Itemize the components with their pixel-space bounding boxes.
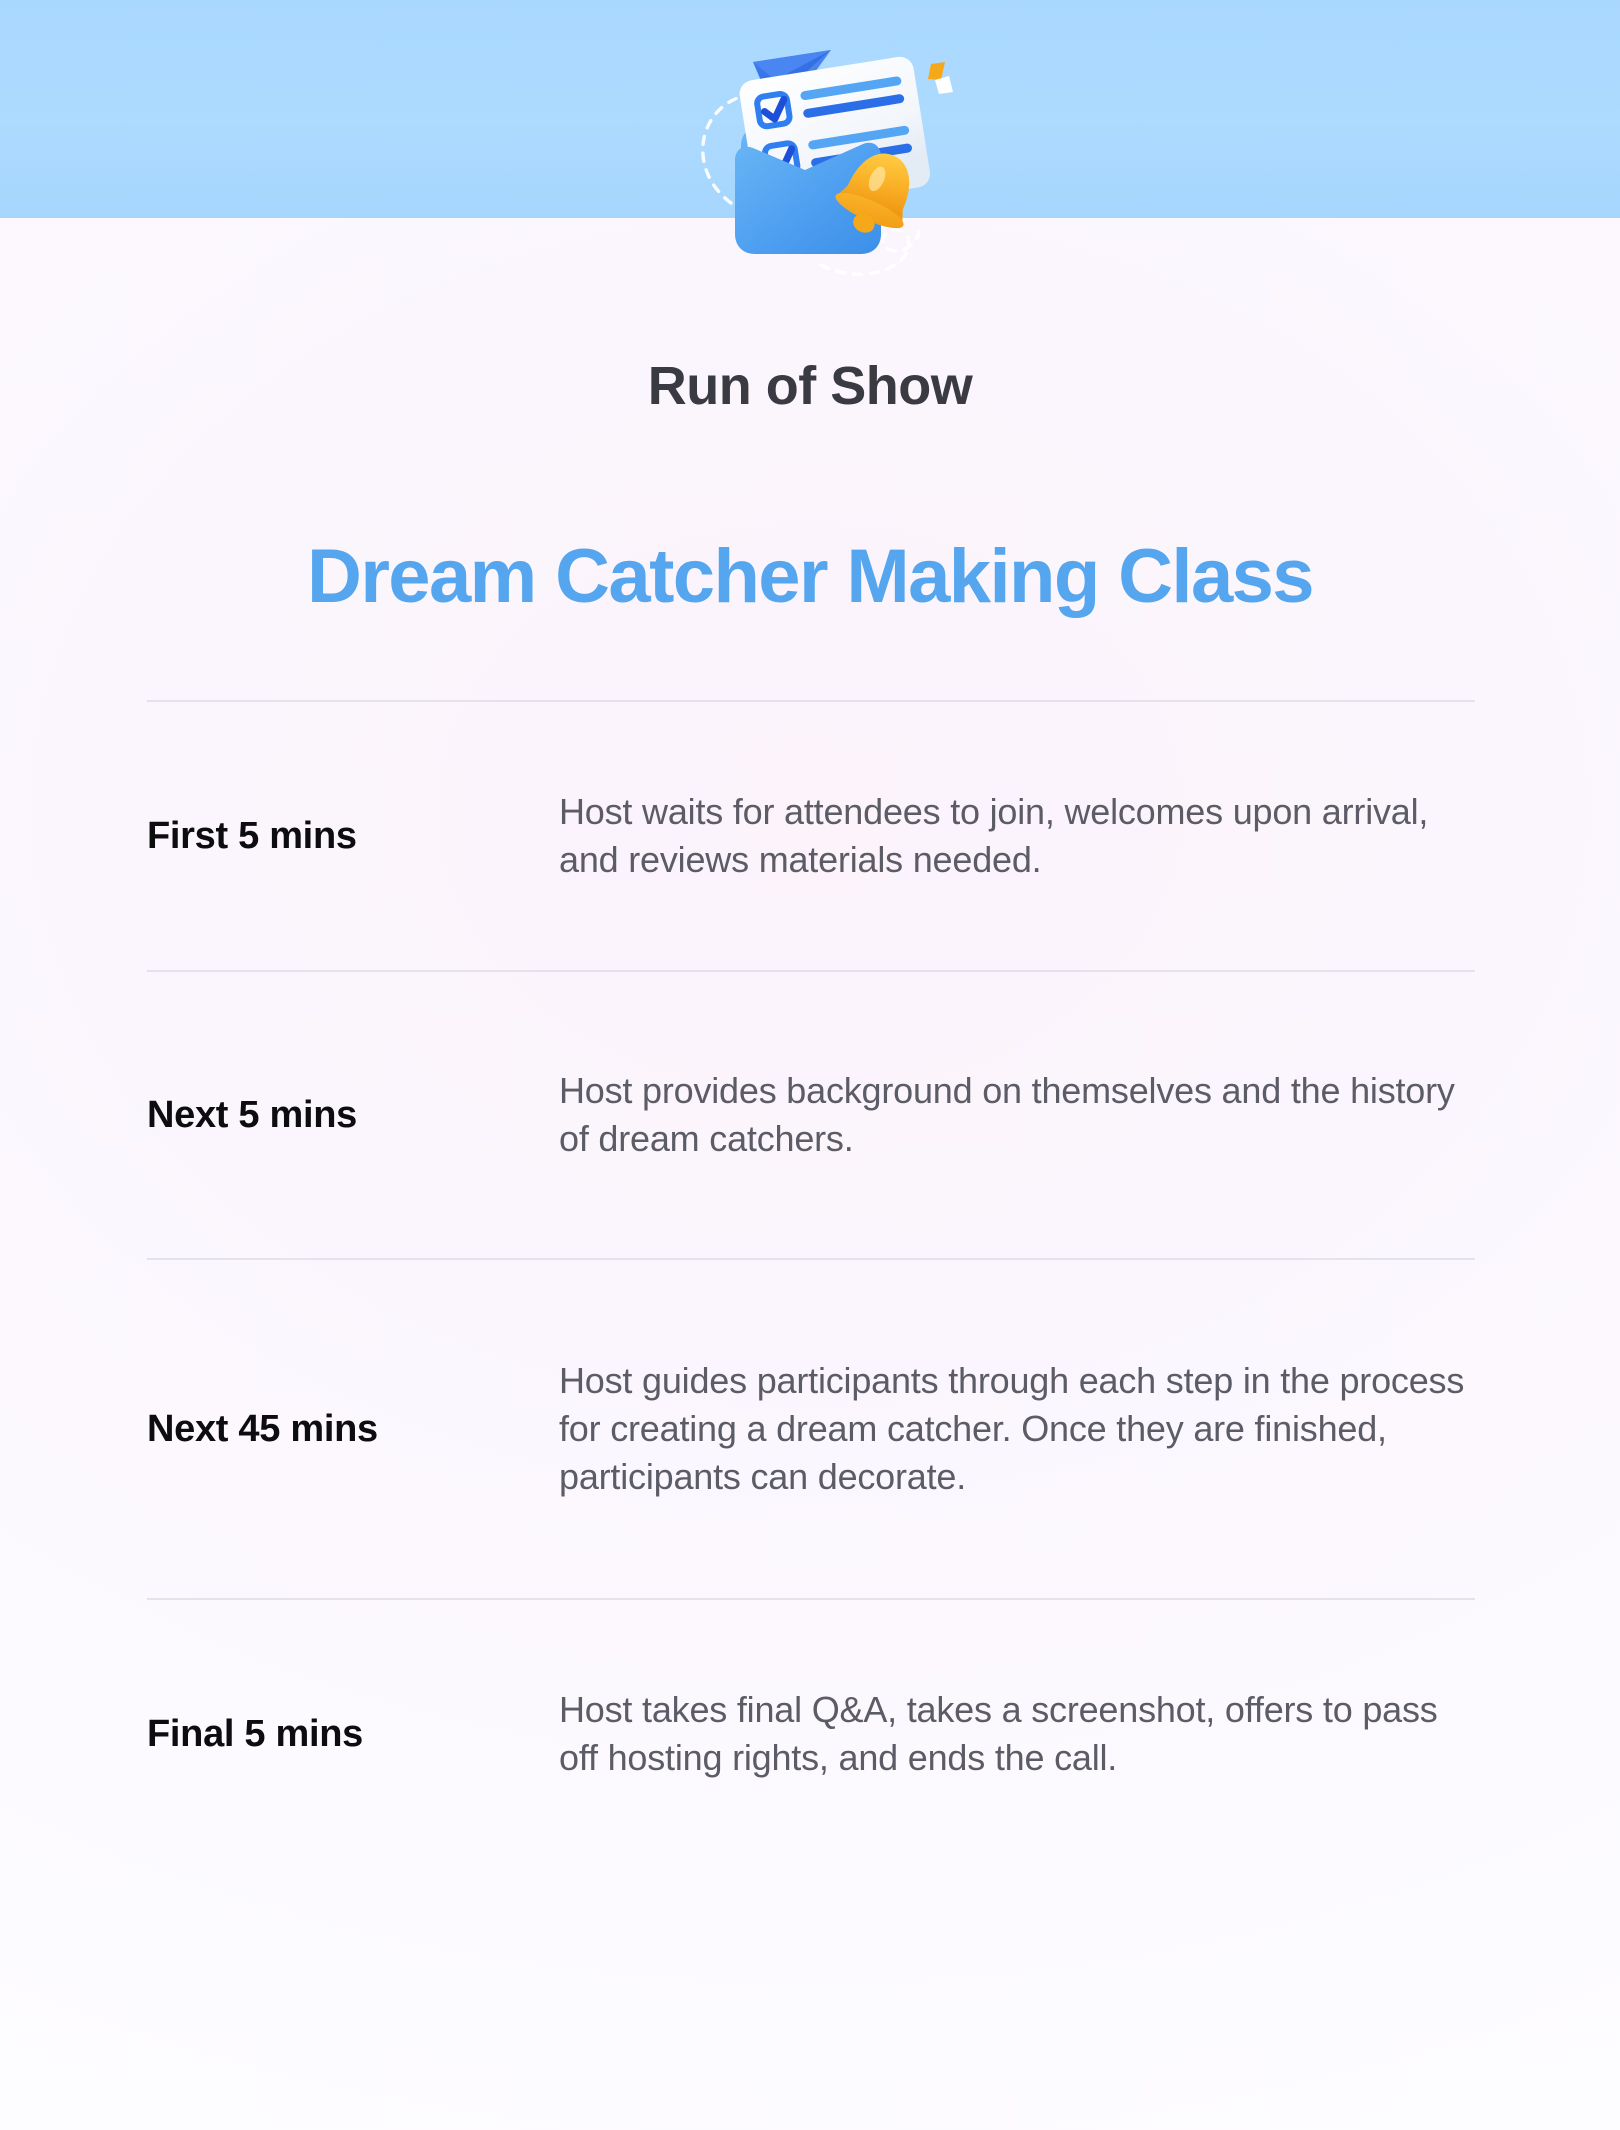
row-time-label: Next 5 mins — [147, 1094, 559, 1137]
table-row: Next 45 mins Host guides participants th… — [147, 1258, 1475, 1598]
row-time-label: Final 5 mins — [147, 1713, 559, 1756]
row-time-label: First 5 mins — [147, 815, 559, 858]
table-row: Final 5 mins Host takes final Q&A, takes… — [147, 1598, 1475, 1868]
page-title: Dream Catcher Making Class — [0, 537, 1620, 617]
run-of-show-table: First 5 mins Host waits for attendees to… — [147, 700, 1475, 1868]
row-description: Host waits for attendees to join, welcom… — [559, 788, 1475, 884]
run-of-show-page: Run of Show Dream Catcher Making Class F… — [0, 0, 1620, 2130]
table-row: Next 5 mins Host provides background on … — [147, 970, 1475, 1258]
envelope-checklist-bell-icon — [635, 18, 965, 288]
table-row: First 5 mins Host waits for attendees to… — [147, 700, 1475, 970]
eyebrow-label: Run of Show — [0, 355, 1620, 417]
row-description: Host takes final Q&A, takes a screenshot… — [559, 1686, 1475, 1782]
row-time-label: Next 45 mins — [147, 1408, 559, 1451]
row-description: Host guides participants through each st… — [559, 1357, 1475, 1501]
row-description: Host provides background on themselves a… — [559, 1067, 1475, 1163]
